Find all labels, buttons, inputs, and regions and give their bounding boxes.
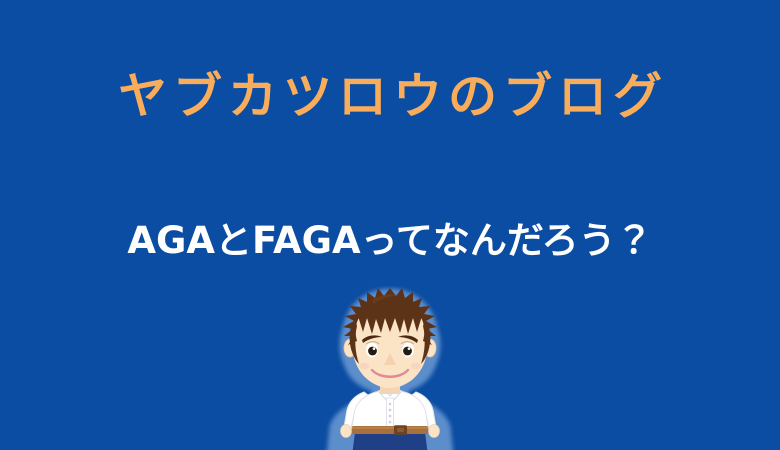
avatar-pupil-left — [368, 347, 377, 356]
avatar-shirt-placket — [387, 398, 394, 428]
avatar-pupil-right — [403, 347, 412, 356]
page-title: ヤブカツロウのブログ — [0, 67, 780, 127]
avatar-hand-left — [341, 425, 352, 438]
avatar-belt-highlight — [352, 427, 428, 429]
avatar-hand-right — [429, 425, 440, 438]
avatar — [310, 286, 470, 450]
blog-title-card: ヤブカツロウのブログ AGAとFAGAってなんだろう？ — [0, 0, 780, 450]
article-subtitle: AGAとFAGAってなんだろう？ — [0, 217, 780, 265]
